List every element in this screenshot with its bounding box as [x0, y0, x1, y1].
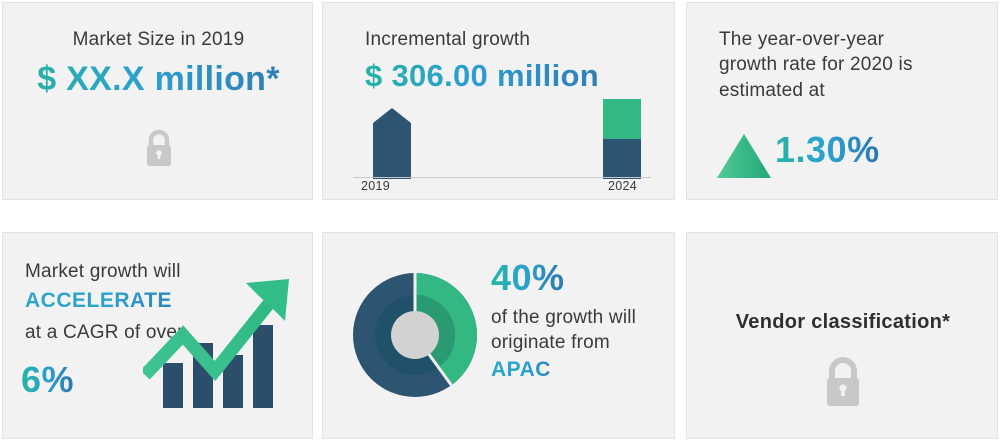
incremental-growth-bar-chart: 2019 2024 [335, 99, 665, 195]
panel-incremental-growth: Incremental growth $ 306.00 million 2019… [322, 2, 675, 200]
cagr-bar-4 [253, 325, 273, 408]
lock-icon [142, 128, 176, 173]
bar-label-2019: 2019 [361, 179, 390, 193]
growth-arrow-chart-icon [143, 263, 308, 413]
market-size-title: Market Size in 2019 [3, 27, 313, 52]
market-size-value: $ XX.X million* [37, 61, 280, 98]
apac-label: APAC [491, 358, 551, 382]
cagr-value-wrap: 6% [21, 359, 74, 401]
apac-share-value: 40% [491, 257, 565, 299]
yoy-growth-line3: estimated at [719, 78, 969, 103]
vendor-classification-title: Vendor classification* [687, 311, 998, 334]
cagr-arrow-line [145, 301, 271, 375]
up-triangle-icon [715, 132, 773, 185]
panel-vendor-classification: Vendor classification* [686, 232, 998, 439]
cagr-bar-1 [163, 363, 183, 408]
cagr-value: 6% [21, 359, 74, 401]
apac-share-line3-wrap: APAC [491, 358, 551, 382]
bar-2024-base [603, 139, 641, 179]
panel-cagr: Market growth will ACCELERATE at a CAGR … [2, 232, 313, 439]
apac-share-line1: of the growth will [491, 305, 636, 330]
yoy-growth-value-wrap: 1.30% [775, 129, 880, 171]
lock-icon [820, 355, 866, 414]
infographic-board: Market Size in 2019 $ XX.X million* Incr… [0, 0, 1000, 441]
panel-market-size: Market Size in 2019 $ XX.X million* [2, 2, 313, 200]
apac-share-donut-chart [345, 265, 485, 410]
bar-2019 [373, 108, 411, 179]
donut-hub [391, 311, 439, 359]
incremental-growth-value-wrap: $ 306.00 million [365, 59, 599, 93]
yoy-growth-value: 1.30% [775, 129, 880, 171]
bar-label-2024: 2024 [608, 179, 637, 193]
yoy-growth-line2: growth rate for 2020 is [719, 52, 969, 77]
incremental-growth-title: Incremental growth [365, 27, 530, 52]
incremental-growth-value: $ 306.00 million [365, 59, 599, 93]
chart-baseline [353, 177, 651, 178]
apac-share-value-wrap: 40% [491, 257, 565, 299]
yoy-growth-text: The year-over-year growth rate for 2020 … [719, 27, 969, 103]
apac-share-line2: originate from [491, 330, 610, 355]
yoy-growth-line1: The year-over-year [719, 27, 969, 52]
panel-yoy-growth: The year-over-year growth rate for 2020 … [686, 2, 998, 200]
market-size-value-wrap: $ XX.X million* [3, 61, 313, 98]
panel-apac-share: 40% of the growth will originate from AP… [322, 232, 675, 439]
